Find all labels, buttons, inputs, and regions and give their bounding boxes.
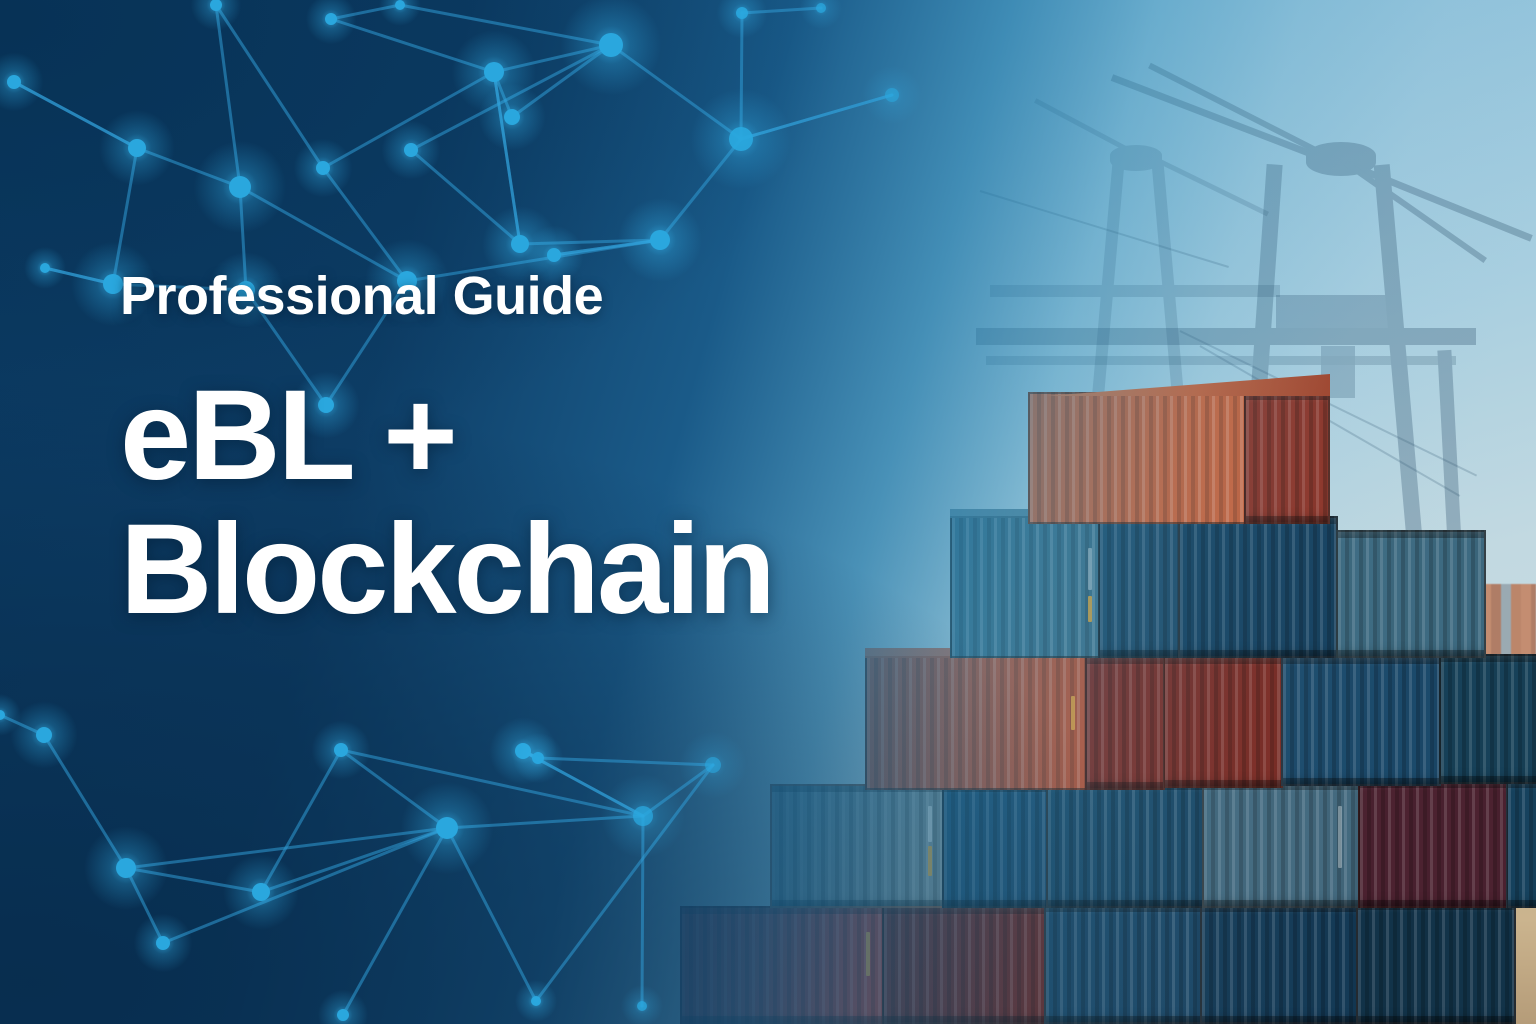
title-line-2: Blockchain [120,505,940,636]
hero-banner: Professional Guide eBL + Blockchain [0,0,1536,1024]
eyebrow-label: Professional Guide [120,268,940,325]
hero-copy: Professional Guide eBL + Blockchain [120,268,940,636]
page-title: eBL + Blockchain [120,371,940,636]
title-line-1: eBL + [120,364,455,507]
